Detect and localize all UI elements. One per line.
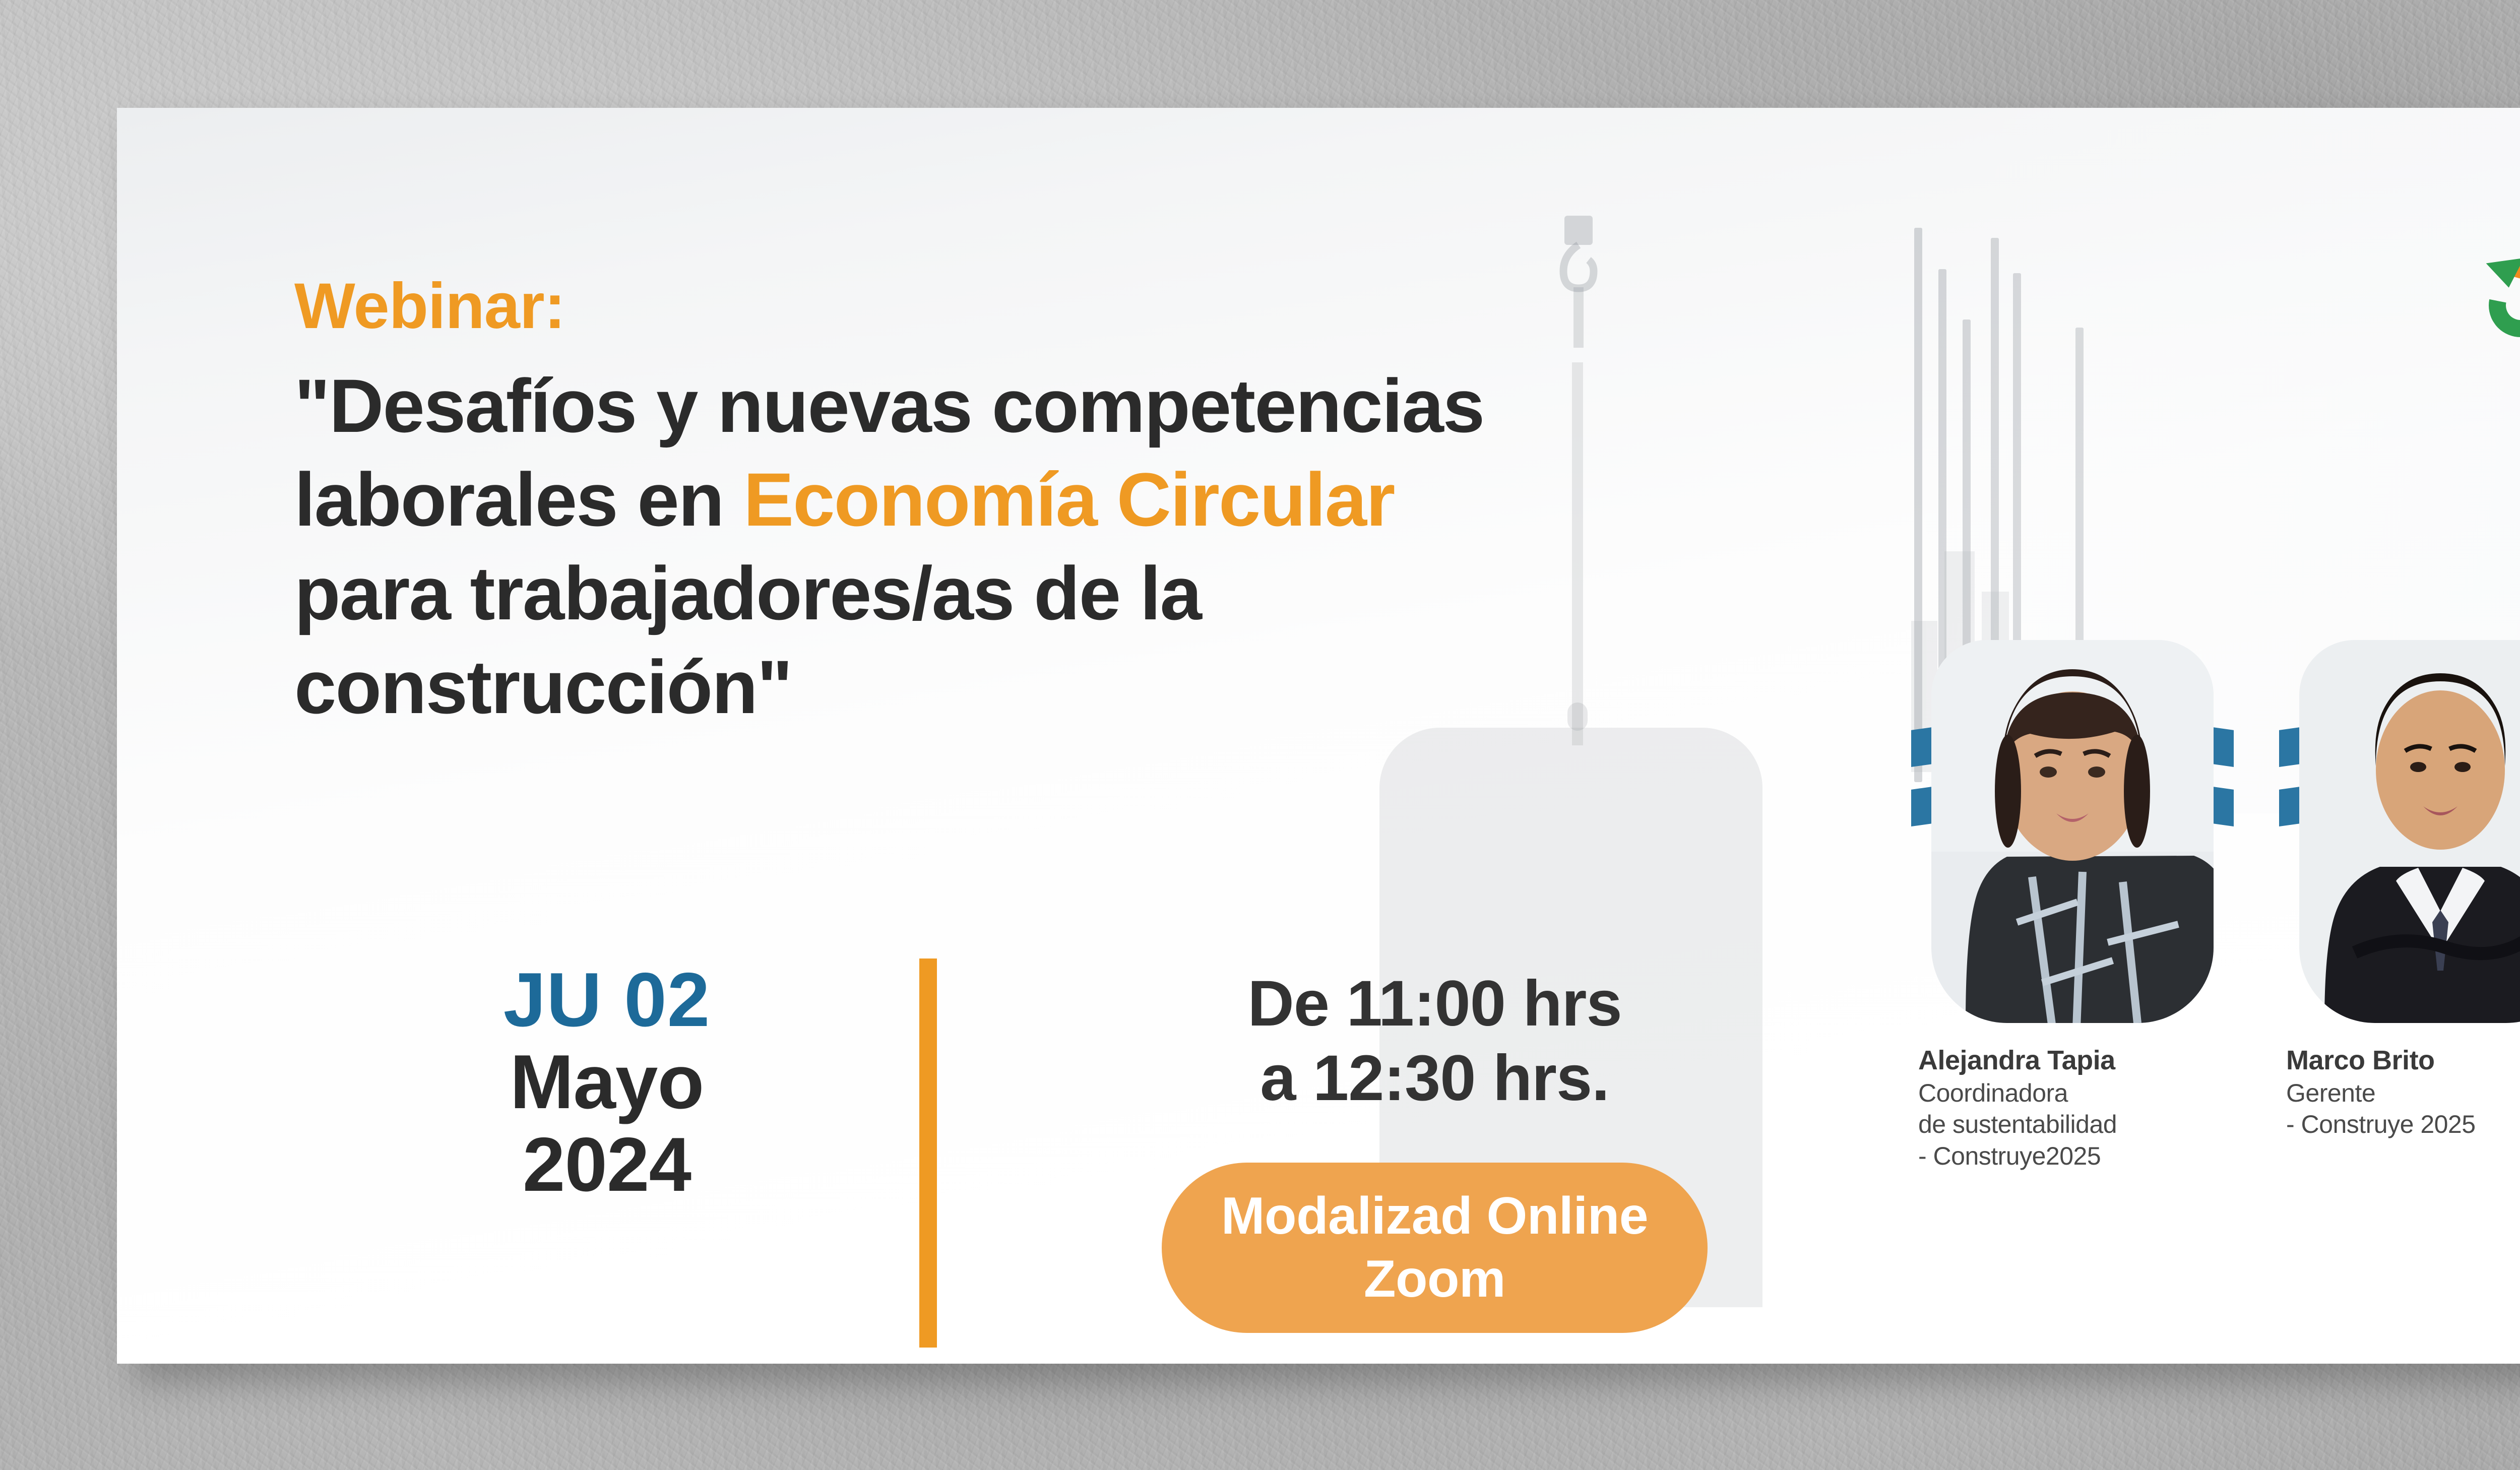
page-title: "Desafíos y nuevas competencias laborale… [294, 359, 1882, 734]
headline-highlight: Economía Circular [743, 457, 1394, 542]
speaker-photo-wrap [1911, 632, 2234, 1035]
speaker-role: Coordinadora de sustentabilidad - Constr… [1918, 1077, 2234, 1172]
event-time-block: De 11:00 hrs a 12:30 hrs. Modalizad Onli… [937, 954, 1882, 1333]
webinar-kicker: Webinar: [294, 274, 1907, 339]
event-time-start: De 11:00 hrs [987, 967, 1882, 1041]
event-date-block: JU 02 Mayo 2024 [294, 954, 919, 1206]
reduciclo-logo: ReduCiclo [2486, 243, 2520, 359]
headline-line-3: para trabajadores/as de la [294, 551, 1201, 635]
headline-line-2-prefix: laborales en [294, 457, 743, 542]
avatar [2299, 640, 2520, 1023]
speaker-name: Marco Brito [2286, 1044, 2520, 1077]
event-day-of-week: JU 02 [294, 960, 919, 1041]
event-info-strip: JU 02 Mayo 2024 De 11:00 hrs a 12:30 hrs… [294, 954, 1882, 1358]
speaker-card: Alejandra Tapia Coordinadora de sustenta… [1911, 632, 2234, 1203]
modality-button-line-2: Zoom [1364, 1250, 1505, 1308]
partner-logo-row: ReduCiclo ETC ESCUELA TECNOLÓGICA DE LA … [2486, 243, 2520, 359]
recycle-arrows-icon [2486, 251, 2520, 350]
modality-button-line-1: Modalizad Online [1221, 1187, 1648, 1245]
event-month: Mayo [294, 1041, 919, 1123]
modality-button[interactable]: Modalizad Online Zoom [1162, 1163, 1708, 1333]
speaker-role: Gerente - Construye 2025 [2286, 1077, 2520, 1140]
event-year: 2024 [294, 1123, 919, 1206]
event-time-end: a 12:30 hrs. [987, 1041, 1882, 1116]
vertical-divider [919, 958, 937, 1348]
headline-line-1: "Desafíos y nuevas competencias [294, 363, 1484, 448]
headline-block: Webinar: "Desafíos y nuevas competencias… [294, 274, 1907, 734]
speaker-caption: Marco Brito Gerente - Construye 2025 [2279, 1044, 2520, 1140]
speaker-card: Marco Brito Gerente - Construye 2025 [2279, 632, 2520, 1203]
headline-line-4: construcción" [294, 645, 792, 729]
webinar-card: Webinar: "Desafíos y nuevas competencias… [117, 108, 2520, 1364]
speaker-name: Alejandra Tapia [1918, 1044, 2234, 1077]
speaker-caption: Alejandra Tapia Coordinadora de sustenta… [1911, 1044, 2234, 1172]
avatar [1931, 640, 2214, 1023]
speaker-photo-wrap [2279, 632, 2520, 1035]
speaker-row: Alejandra Tapia Coordinadora de sustenta… [1911, 632, 2520, 1203]
